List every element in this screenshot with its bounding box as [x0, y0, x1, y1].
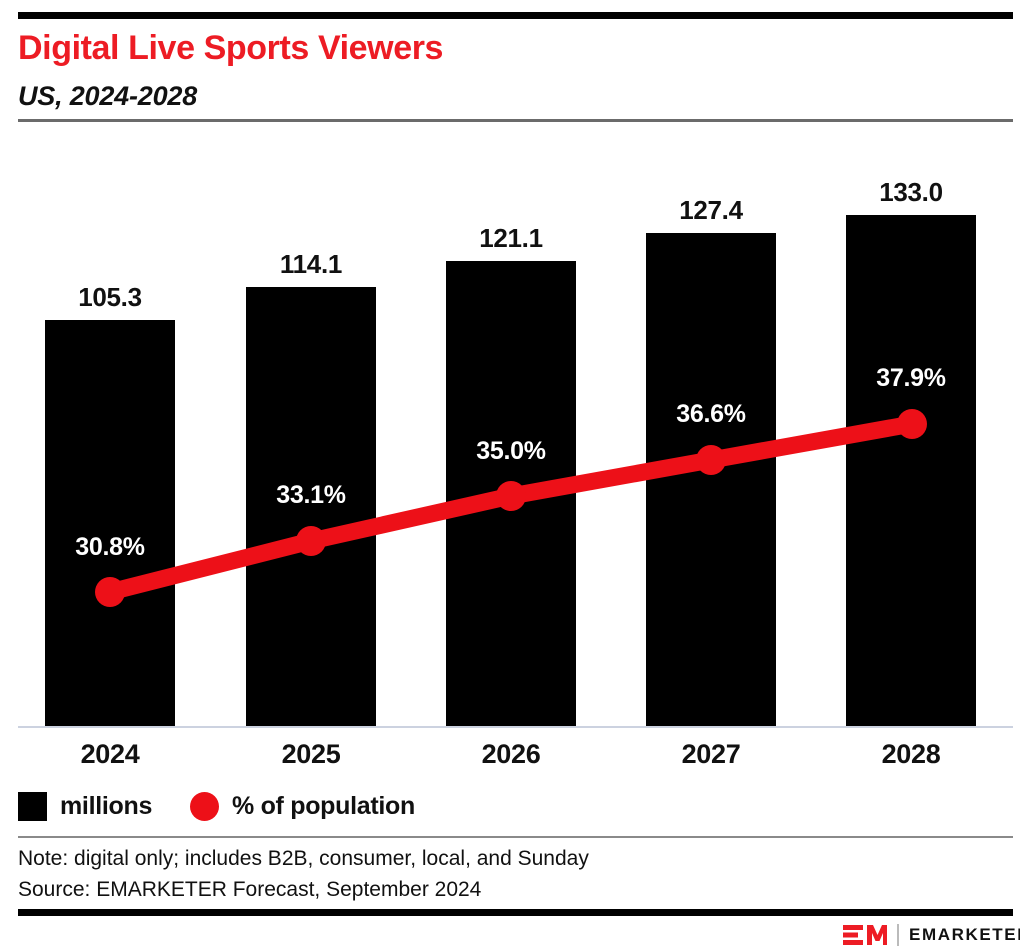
- bar-2026: [446, 261, 576, 726]
- footer-divider: [18, 836, 1013, 838]
- circle-swatch-icon: [190, 792, 219, 821]
- bottom-rule: [18, 909, 1013, 916]
- logo-divider: [897, 924, 899, 946]
- bar-value-2026: 121.1: [446, 223, 576, 253]
- x-label-2025: 2025: [246, 738, 376, 770]
- legend-item-percent-of-population[interactable]: % of population: [190, 789, 415, 823]
- bar-value-2027: 127.4: [646, 195, 776, 225]
- logo-wordmark: EMARKETER: [909, 925, 1020, 945]
- bar-2024: [45, 320, 175, 726]
- pct-value-2027: 36.6%: [646, 400, 776, 429]
- pct-value-2025: 33.1%: [246, 481, 376, 510]
- chart-source: Source: EMARKETER Forecast, September 20…: [18, 875, 481, 905]
- legend-label-percent: % of population: [232, 792, 415, 821]
- emarketer-logo: EMARKETER: [843, 922, 1020, 948]
- bar-value-2028: 133.0: [846, 177, 976, 207]
- bar-2028: [846, 215, 976, 726]
- bar-2027: [646, 233, 776, 726]
- bar-value-2024: 105.3: [45, 282, 175, 312]
- pct-value-2024: 30.8%: [45, 533, 175, 562]
- x-axis-line: [18, 726, 1013, 728]
- legend-item-millions[interactable]: millions: [18, 789, 152, 823]
- x-label-2027: 2027: [646, 738, 776, 770]
- chart-note: Note: digital only; includes B2B, consum…: [18, 844, 589, 874]
- bar-value-2025: 114.1: [246, 249, 376, 279]
- legend-label-millions: millions: [60, 792, 152, 821]
- x-label-2026: 2026: [446, 738, 576, 770]
- x-label-2028: 2028: [846, 738, 976, 770]
- pct-value-2028: 37.9%: [846, 364, 976, 393]
- chart-page: Digital Live Sports Viewers US, 2024-202…: [0, 0, 1020, 952]
- square-swatch-icon: [18, 792, 47, 821]
- plot-area: 105.3 114.1 121.1 127.4 133.0 30.8% 33.1…: [0, 0, 1020, 952]
- x-label-2024: 2024: [45, 738, 175, 770]
- em-logo-icon: [843, 923, 887, 947]
- pct-value-2026: 35.0%: [446, 437, 576, 466]
